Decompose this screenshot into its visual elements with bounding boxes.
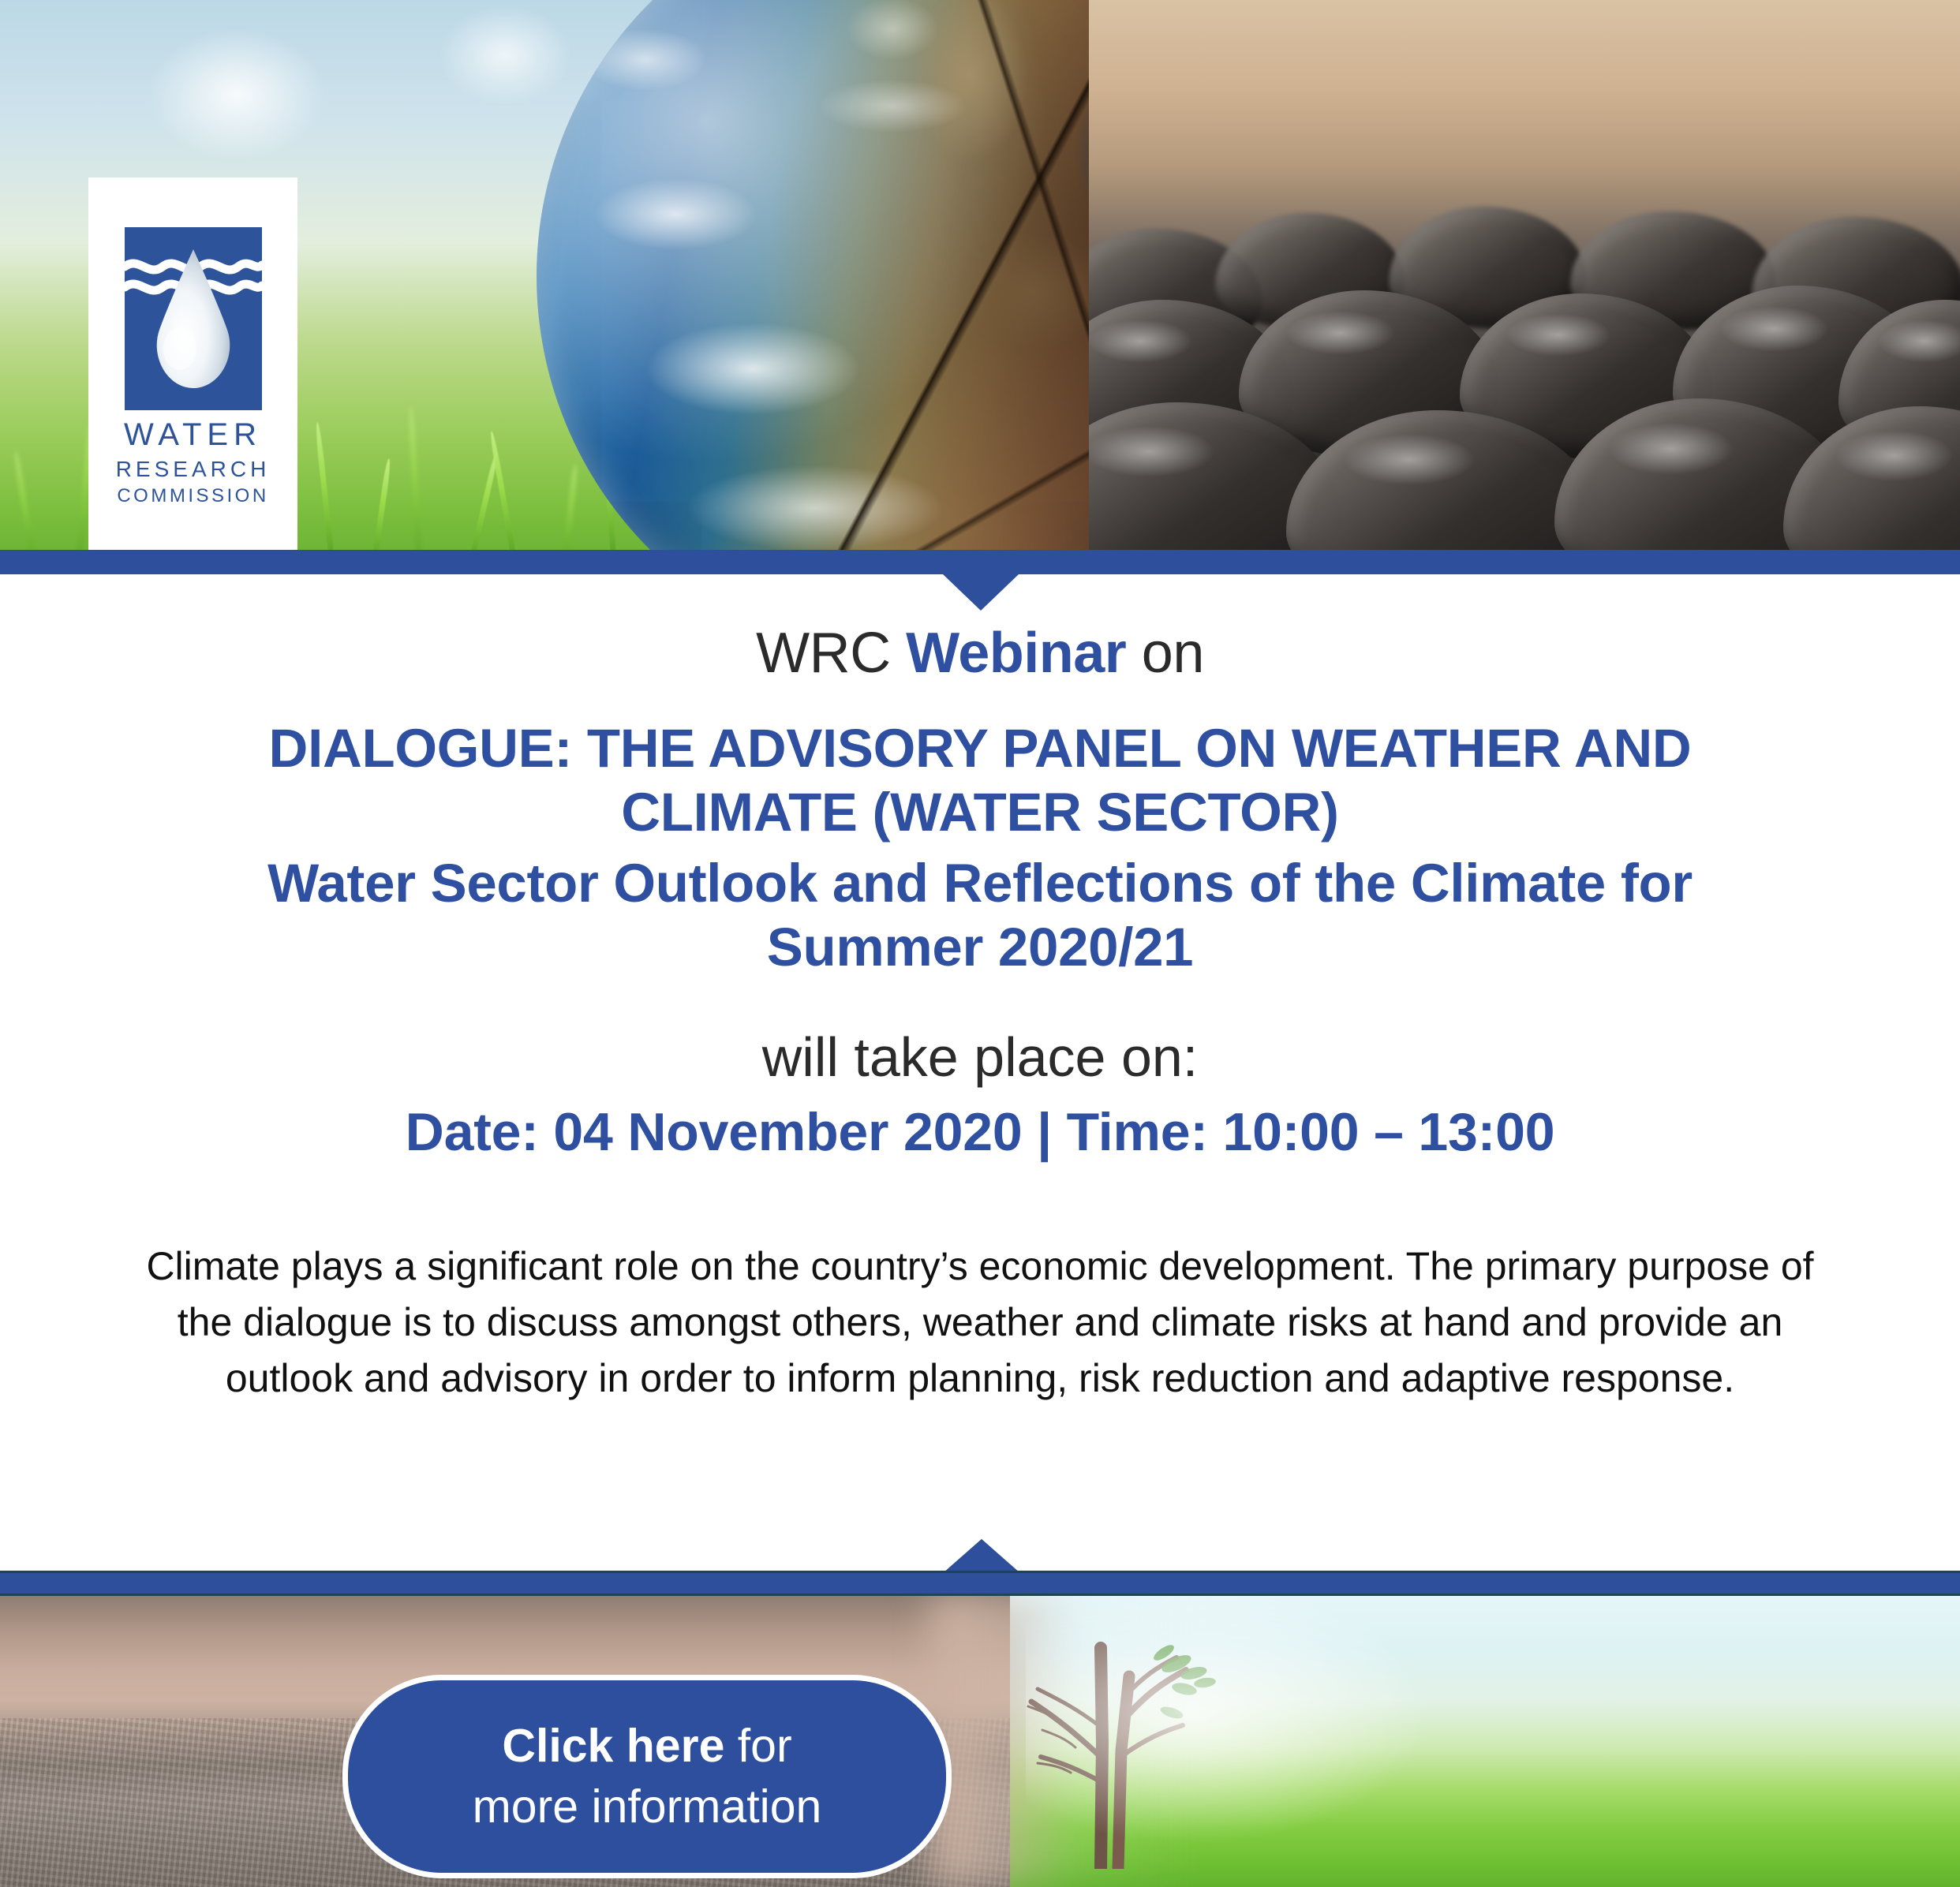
description-paragraph: Climate plays a significant role on the … (73, 1239, 1887, 1407)
main-content: WRC Webinar on DIALOGUE: THE ADVISORY PA… (0, 574, 1960, 1571)
take-place-label: will take place on: (0, 1026, 1960, 1089)
top-banner-image: WATER RESEARCH COMMISSION (0, 0, 1960, 552)
chevron-down-icon (943, 574, 1019, 611)
logo-line-commission: COMMISSION (116, 487, 271, 506)
page-subtitle-line-2: Summer 2020/21 (134, 916, 1826, 980)
top-divider-bar (0, 550, 1960, 574)
logo-line-research: RESEARCH (116, 458, 271, 480)
wrc-logo: WATER RESEARCH COMMISSION (88, 177, 297, 550)
webinar-kicker: WRC Webinar on (0, 621, 1960, 686)
webinar-poster: WATER RESEARCH COMMISSION WRC Webinar on… (0, 0, 1960, 1887)
bottom-divider-bar (0, 1571, 1960, 1596)
cta-label-rest: for (724, 1720, 791, 1772)
page-title: DIALOGUE: THE ADVISORY PANEL ON WEATHER … (0, 717, 1960, 844)
page-subtitle: Water Sector Outlook and Reflections of … (0, 852, 1960, 979)
webinar-kicker-post: on (1126, 622, 1204, 685)
page-title-line-2: CLIMATE (WATER SECTOR) (118, 781, 1842, 845)
landfill-scene (1089, 0, 1960, 552)
water-drop-icon (125, 227, 262, 410)
footer-banner-image (0, 1596, 1960, 1887)
droplet-icon (145, 248, 241, 393)
chevron-up-icon (942, 1539, 1021, 1574)
cta-label-bold: Click here (502, 1720, 724, 1772)
logo-wordmark: WATER RESEARCH COMMISSION (116, 419, 271, 506)
cta-label: Click here for more information (473, 1716, 822, 1837)
page-title-line-1: DIALOGUE: THE ADVISORY PANEL ON WEATHER … (118, 717, 1842, 781)
date-time-text: Date: 04 November 2020 | Time: 10:00 – 1… (0, 1101, 1960, 1163)
split-tree-icon (982, 1601, 1251, 1869)
cta-label-line2: more information (473, 1781, 822, 1833)
webinar-kicker-pre: WRC (756, 622, 906, 685)
more-information-button[interactable]: Click here for more information (342, 1675, 952, 1878)
logo-line-water: WATER (116, 419, 271, 452)
page-subtitle-line-1: Water Sector Outlook and Reflections of … (134, 852, 1826, 916)
webinar-kicker-highlight: Webinar (906, 622, 1126, 685)
